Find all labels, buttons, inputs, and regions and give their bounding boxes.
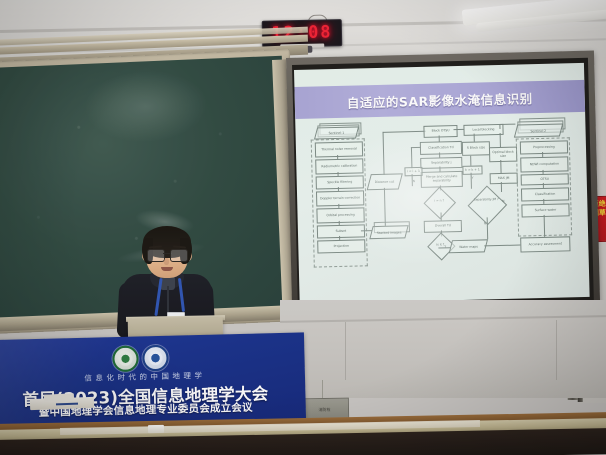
edge-localblocking-blockotsu [453,129,463,130]
node-merge-calculate-separability: Merge and calculate separability [421,171,463,188]
eyeglasses-right-lens [170,249,188,262]
node-s-block-size: S Block size [462,141,490,156]
node-water-maps: Water maps [449,239,488,253]
blue-society-emblem-icon [142,345,169,372]
edge-sblock-localblocking [474,134,475,142]
node-overall-td: Overall Td [424,220,462,233]
node-k-increment: k = k + 1 [462,165,482,174]
node-local-blocking: Local blocking [463,124,503,136]
wall-panel-seam-secondary [556,320,557,380]
node-sentinel2: Sentinel-2 [514,123,563,137]
node-sentinel1: Sentinel-1 [314,126,359,139]
node-surface-water: Surface water [521,203,569,217]
edge-up-from-distance [383,132,385,175]
node-preprocessing: Preprocessing [520,140,568,154]
node-max-jm: MAX JM [490,173,518,185]
edge-to-block-otsu [383,131,426,133]
node-doppler-terrain-correction: Doppler terrain correction [316,190,364,206]
node-separability-j: Separability j [420,157,462,169]
node-thermal-noise-removal: Thermal noise removal [315,141,363,157]
node-radiometric-calibration: Radiometric calibration [315,158,363,174]
node-classification-td: Classification Td [420,141,462,155]
node-orbital-processing: Orbital processing [316,207,364,223]
cup-on-desk [148,425,164,433]
node-projection: Projection [317,239,365,253]
node-subset: Subset [317,224,365,238]
edge-maxjm-down [501,182,502,192]
chalkboard-glare [84,69,207,144]
edge-optimal-up [500,133,501,147]
projection-screen: 自适应的SAR影像水淹信息识别 Sentinel-1 Thermal noise… [294,63,590,304]
node-block-otsu: Block OTSU [423,125,457,138]
node-stacked-images: Stacked images [369,225,408,239]
wall-box-cable [322,380,323,399]
branch-label-n-3: N [484,221,486,225]
decision-i-equals-n-label: i = n ? [424,198,454,203]
eyeglasses-left-lens [147,249,165,262]
branch-label-n-2: N [502,199,504,203]
branch-label-y-1: Y [472,176,474,180]
lower-wall [280,300,606,398]
presenter-nose [164,258,169,265]
branch-label-n-1: N [413,179,415,183]
node-ndwi-computation: NDWI computation [520,156,568,172]
decision-separability-jm-label: Separability JM ? [471,197,501,202]
node-speckle-filtering: Speckle filtering [316,175,364,189]
node-classification: Classification [521,187,569,201]
edge-top-right-corner [499,124,515,125]
edge-i-loop-back [411,147,413,168]
edge-water-accuracy [484,245,520,247]
node-accuracy-assessment: Accuracy assessment [520,236,570,252]
slide-flowchart: Sentinel-1 Thermal noise removal Radiome… [295,113,589,304]
node-i-increment: i = i + 1 [404,167,422,176]
wall-panel-seam [345,322,346,380]
edge-decision-overall [441,212,442,220]
node-optimal-block-size: Optimal block size [489,147,517,163]
classroom-presentation-scene: 拒绝烟草 12:08 自适应的SAR影像水淹信息识别 Sentinel-1 [0,0,606,455]
edge-k-increment-up [470,156,471,166]
node-otsu: OTSU [521,173,569,185]
edge-distance-to-stacked [384,188,386,226]
